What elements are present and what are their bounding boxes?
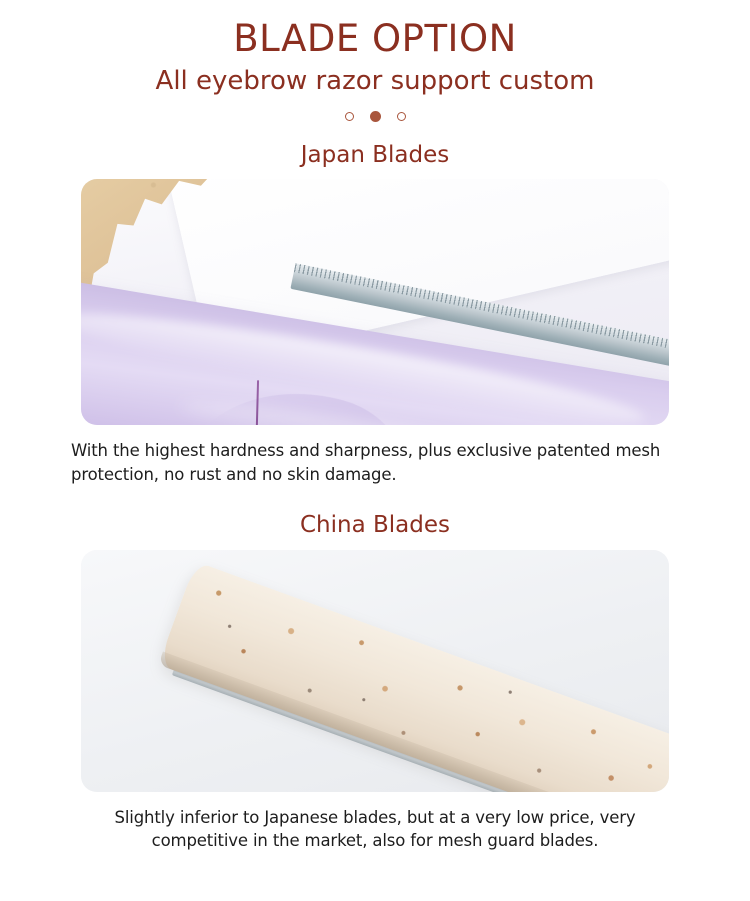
section-heading-japan: Japan Blades: [0, 142, 750, 170]
description-china-blades: Slightly inferior to Japanese blades, bu…: [71, 806, 679, 853]
product-photo-china-blades: [81, 550, 669, 792]
product-detail-page: BLADE OPTION All eyebrow razor support c…: [0, 0, 750, 901]
carousel-dot-2-active[interactable]: [370, 111, 381, 122]
section-japan-blades: Japan Blades With the highest hardness a…: [0, 142, 750, 486]
carousel-dots[interactable]: [0, 110, 750, 124]
section-china-blades: China Blades Slightly inferior to Japane…: [0, 512, 750, 852]
page-subtitle: All eyebrow razor support custom: [0, 67, 750, 96]
section-heading-china: China Blades: [0, 512, 750, 540]
carousel-dot-1[interactable]: [345, 112, 354, 121]
page-header: BLADE OPTION All eyebrow razor support c…: [0, 0, 750, 124]
carousel-dot-3[interactable]: [397, 112, 406, 121]
product-photo-japan-blades: [81, 179, 669, 425]
description-japan-blades: With the highest hardness and sharpness,…: [71, 439, 679, 486]
page-title: BLADE OPTION: [0, 20, 750, 57]
